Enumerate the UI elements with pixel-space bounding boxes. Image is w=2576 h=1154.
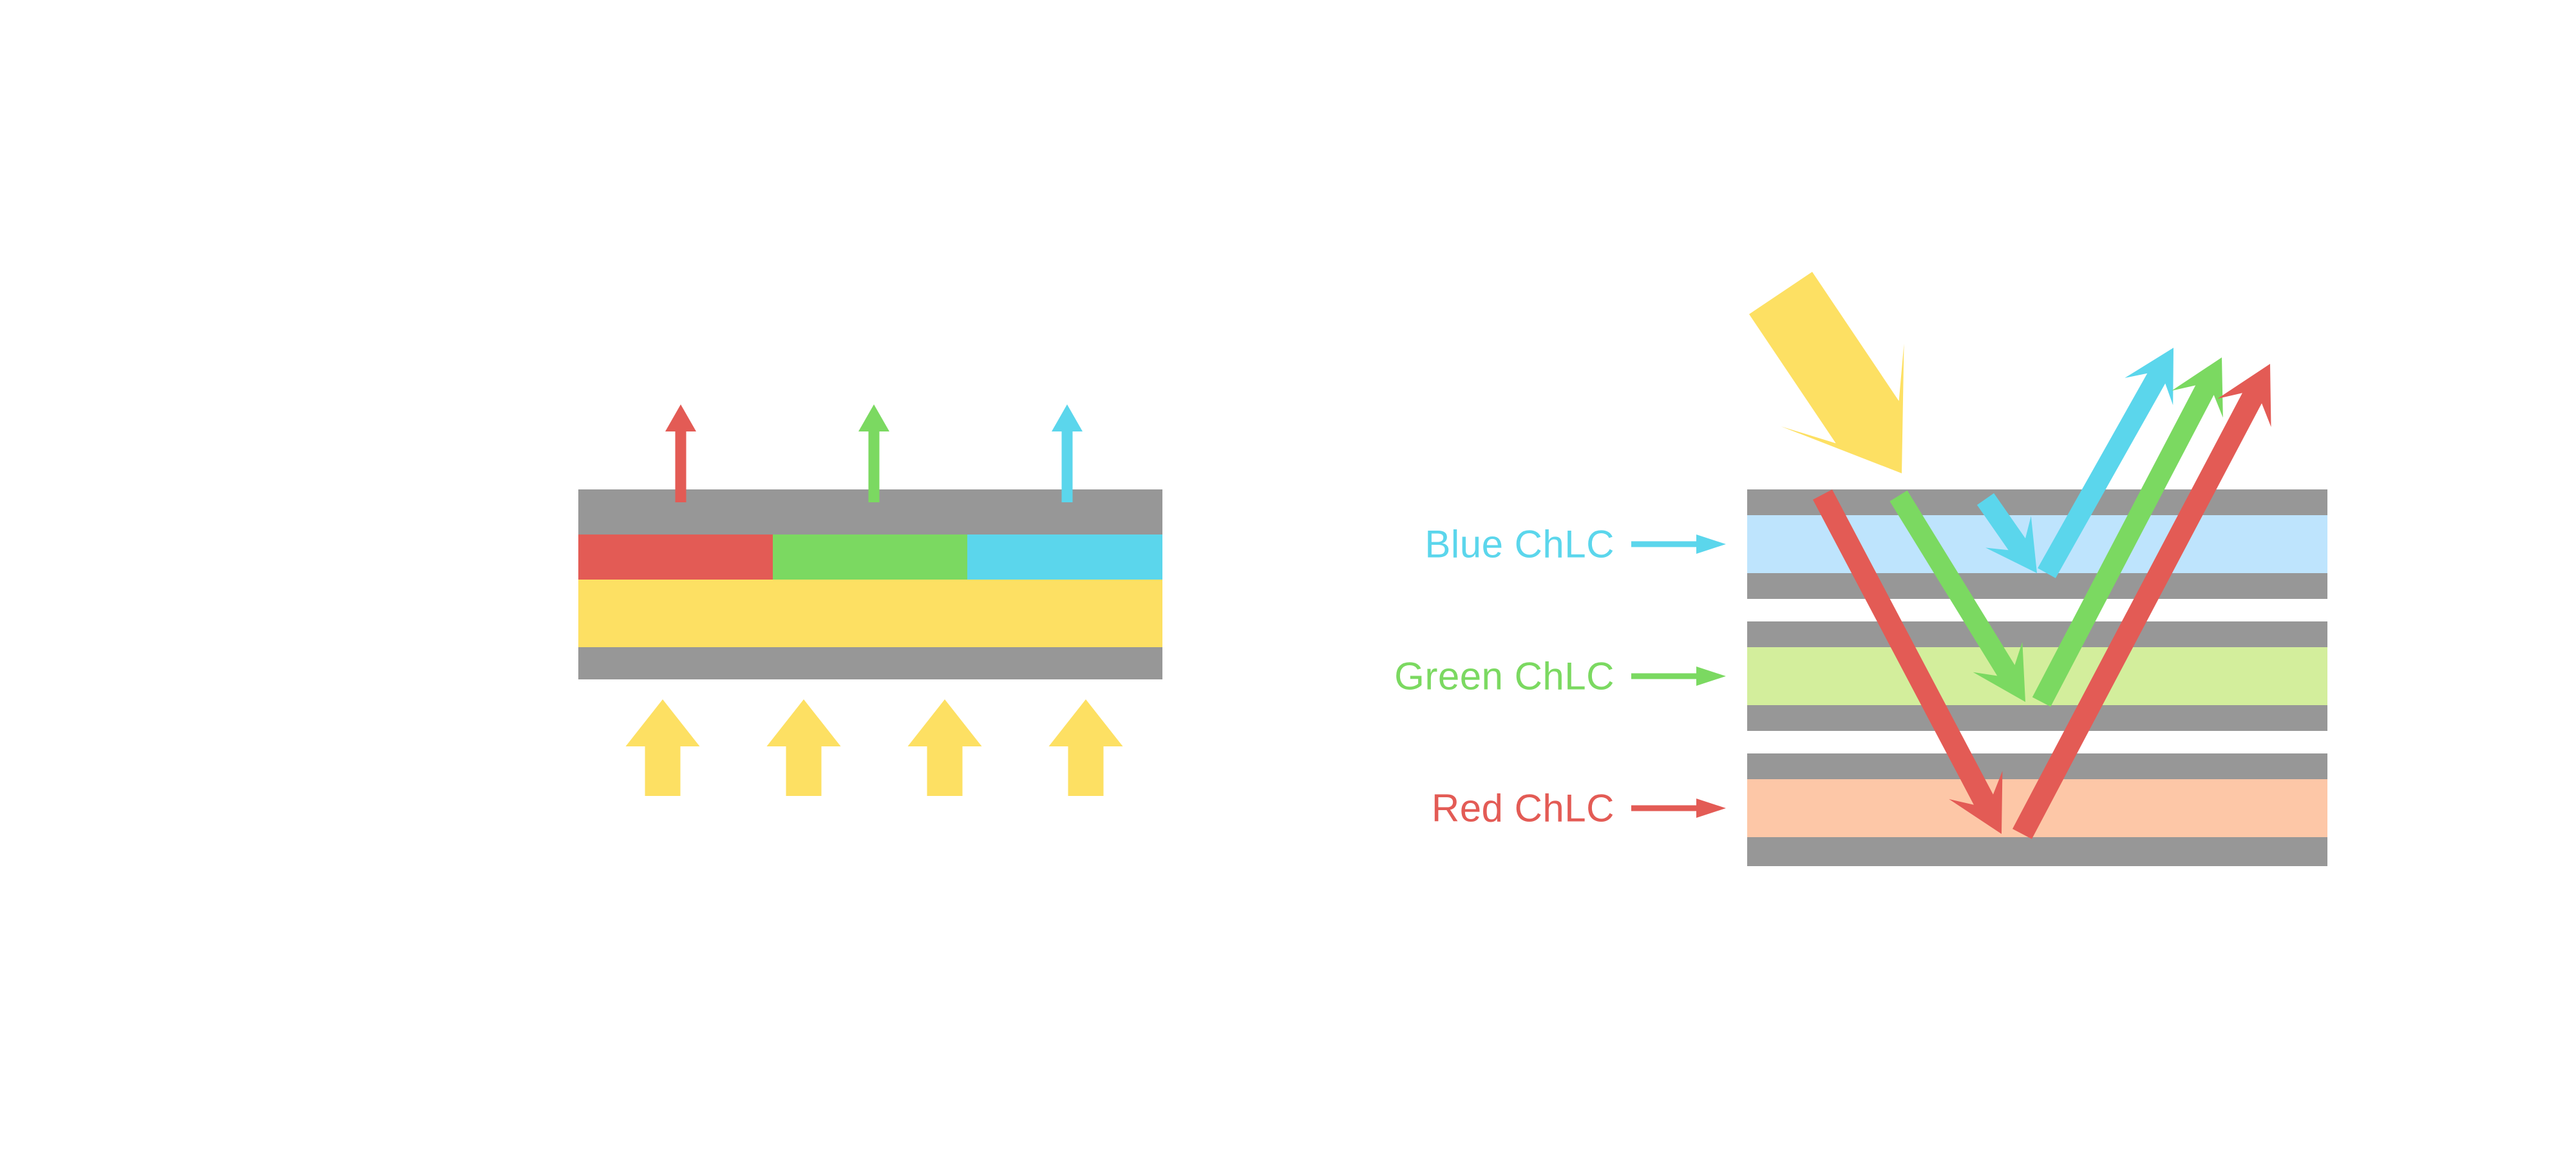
chlc-diagram-svg bbox=[0, 0, 2576, 1154]
left-panel-emitted-arrows bbox=[665, 404, 1083, 502]
green-cell-bottom-electrode bbox=[1747, 705, 2327, 731]
diagram-canvas: Blue ChLCGreen ChLCRed ChLC bbox=[0, 0, 2576, 1154]
yellow-backlight-layer bbox=[578, 580, 1162, 647]
backlight-arrow-1 bbox=[626, 699, 700, 796]
blue-chlc-cell-label: Blue ChLC bbox=[1425, 522, 1615, 567]
red-filter-segment bbox=[578, 534, 773, 580]
red-cell-bottom-electrode bbox=[1747, 837, 2327, 866]
blue-emitted-arrow bbox=[1052, 404, 1083, 502]
green-chlc-cell-pointer-arrow-icon bbox=[1631, 667, 1726, 686]
red-chlc-cell-label: Red ChLC bbox=[1432, 786, 1615, 831]
blue-chlc-cell-pointer-arrow-icon bbox=[1631, 534, 1726, 554]
red-chlc-cell-pointer-arrow-icon bbox=[1631, 799, 1726, 818]
incident-light-arrow bbox=[1749, 272, 1904, 473]
blue-cell-bottom-electrode bbox=[1747, 573, 2327, 599]
green-cell-top-electrode bbox=[1747, 621, 2327, 647]
green-chlc-cell-label: Green ChLC bbox=[1394, 654, 1615, 699]
label-pointer-arrows bbox=[1631, 534, 1726, 818]
bottom-gray-substrate bbox=[578, 647, 1162, 679]
green-filter-segment bbox=[773, 534, 967, 580]
red-emitted-arrow bbox=[665, 404, 696, 502]
left-panel-layers bbox=[578, 489, 1162, 679]
red-cell-top-electrode bbox=[1747, 753, 2327, 779]
backlight-arrow-3 bbox=[908, 699, 982, 796]
backlight-arrow-4 bbox=[1049, 699, 1123, 796]
left-panel-backlight-arrows bbox=[626, 699, 1123, 796]
green-emitted-arrow bbox=[858, 404, 889, 502]
ambient-light-incident-arrow bbox=[1749, 272, 1904, 473]
blue-filter-segment bbox=[967, 534, 1162, 580]
backlight-arrow-2 bbox=[767, 699, 841, 796]
